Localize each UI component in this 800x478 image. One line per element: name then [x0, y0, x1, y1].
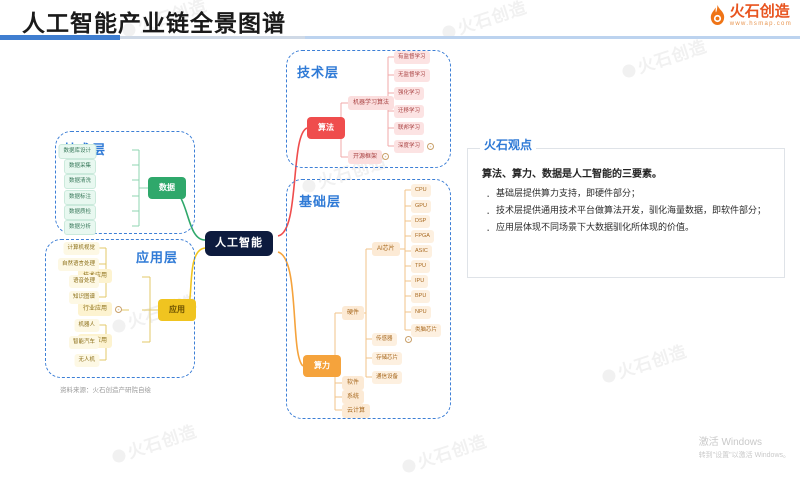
page-title: 人工智能产业链全景图谱 [22, 4, 286, 38]
node-application-leaf[interactable]: 语音处理 [69, 275, 99, 288]
node-algorithm-mid-ml[interactable]: 机器学习算法 [348, 96, 394, 110]
brand-logo: 火石创造 www.hsmap.com [709, 4, 792, 27]
node-application-leaf[interactable]: 知识图谱 [69, 291, 99, 304]
node-algorithm-main[interactable]: 算法 [307, 117, 345, 139]
node-power-mid-cloud[interactable]: 云计算 [342, 404, 370, 418]
watermark: 火石创造 [398, 427, 489, 478]
node-data-leaf[interactable]: 数据质检 [64, 205, 96, 220]
node-power-mid-system[interactable]: 系统 [342, 390, 364, 404]
source-note: 资料来源：火石创造产研院自绘 [60, 384, 151, 394]
collapse-toggle-icon[interactable]: + [115, 306, 122, 313]
activation-title: 激活 Windows [699, 433, 790, 448]
node-algorithm-leaf[interactable]: 联邦学习 [394, 122, 424, 135]
node-application-main[interactable]: 应用 [158, 299, 196, 321]
header-divider [0, 35, 800, 40]
node-chip-leaf[interactable]: TPU [411, 260, 430, 273]
node-algorithm-leaf[interactable]: 深度学习 [394, 140, 424, 153]
node-chip-leaf[interactable]: 类脑芯片 [411, 324, 441, 337]
node-chip-leaf[interactable]: IPU [411, 275, 428, 288]
node-chip-leaf[interactable]: BPU [411, 290, 430, 303]
watermark: 火石创造 [598, 337, 689, 388]
node-application-leaf[interactable]: 无人机 [74, 354, 99, 367]
node-root-ai[interactable]: 人工智能 [205, 231, 273, 256]
page-header: 人工智能产业链全景图谱 [0, 0, 800, 42]
insight-bullet-list: 基础层提供算力支持，即硬件部分； 技术层提供通用技术平台做算法开发，驯化海量数据… [484, 187, 772, 235]
watermark: 火石创造 [108, 417, 199, 468]
frame-label-foundation: 基础层 [299, 191, 341, 210]
node-data-leaf[interactable]: 数据库设计 [58, 144, 96, 159]
frame-label-application: 应用层 [136, 247, 178, 266]
node-chip-leaf[interactable]: FPGA [411, 230, 434, 243]
node-data-leaf[interactable]: 数据分析 [64, 220, 96, 235]
node-power-sub-sensor[interactable]: 传感器 [372, 333, 397, 346]
node-algorithm-leaf[interactable]: 无监督学习 [394, 69, 430, 82]
list-item: 技术层提供通用技术平台做算法开发，驯化海量数据，即软件部分； [484, 204, 772, 218]
node-algorithm-mid-framework[interactable]: 开源框架 [348, 150, 382, 164]
collapse-toggle-icon[interactable]: + [427, 143, 434, 150]
logo-name: 火石创造 [730, 4, 792, 19]
node-application-mid-industry[interactable]: 行业应用 [78, 302, 112, 316]
insight-panel: 算法、算力、数据是人工智能的三要素。 基础层提供算力支持，即硬件部分； 技术层提… [467, 148, 785, 278]
node-chip-leaf[interactable]: CPU [411, 184, 431, 197]
node-algorithm-leaf[interactable]: 有监督学习 [394, 51, 430, 64]
logo-url: www.hsmap.com [730, 21, 792, 27]
node-power-mid-hardware[interactable]: 硬件 [342, 306, 364, 320]
collapse-toggle-icon[interactable]: + [405, 336, 412, 343]
node-power-sub-comms[interactable]: 通信设备 [372, 371, 402, 384]
node-application-leaf[interactable]: 自然语言处理 [58, 258, 99, 271]
node-data-leaf[interactable]: 数据采集 [64, 159, 96, 174]
windows-activation-notice: 激活 Windows 转到"设置"以激活 Windows。 [699, 433, 790, 460]
insight-panel-title: 火石观点 [480, 136, 536, 153]
node-chip-leaf[interactable]: ASIC [411, 245, 432, 258]
collapse-toggle-icon[interactable]: + [382, 153, 389, 160]
list-item: 基础层提供算力支持，即硬件部分； [484, 187, 772, 201]
activation-subtitle: 转到"设置"以激活 Windows。 [699, 450, 790, 460]
node-chip-leaf[interactable]: NPU [411, 306, 431, 319]
frame-label-tech-algo: 技术层 [297, 62, 339, 81]
node-power-mid-software[interactable]: 软件 [342, 376, 364, 390]
node-algorithm-leaf[interactable]: 强化学习 [394, 87, 424, 100]
node-application-leaf[interactable]: 智能汽车 [69, 336, 99, 349]
node-data-leaf[interactable]: 数据标注 [64, 190, 96, 205]
node-chip-leaf[interactable]: DSP [411, 215, 430, 228]
node-application-leaf[interactable]: 机器人 [74, 319, 99, 332]
node-chip-leaf[interactable]: GPU [411, 200, 431, 213]
node-data-main[interactable]: 数据 [148, 177, 186, 199]
node-power-sub-storage[interactable]: 存储芯片 [372, 352, 402, 365]
insight-lead: 算法、算力、数据是人工智能的三要素。 [482, 165, 784, 180]
node-power-main[interactable]: 算力 [303, 355, 341, 377]
node-power-sub-aichip[interactable]: AI芯片 [372, 242, 400, 256]
flame-icon [709, 5, 726, 27]
node-application-leaf[interactable]: 计算机视觉 [63, 242, 99, 255]
node-algorithm-leaf[interactable]: 迁移学习 [394, 105, 424, 118]
node-data-leaf[interactable]: 数据清洗 [64, 174, 96, 189]
list-item: 应用层体现不同场景下大数据驯化所体现的价值。 [484, 221, 772, 235]
